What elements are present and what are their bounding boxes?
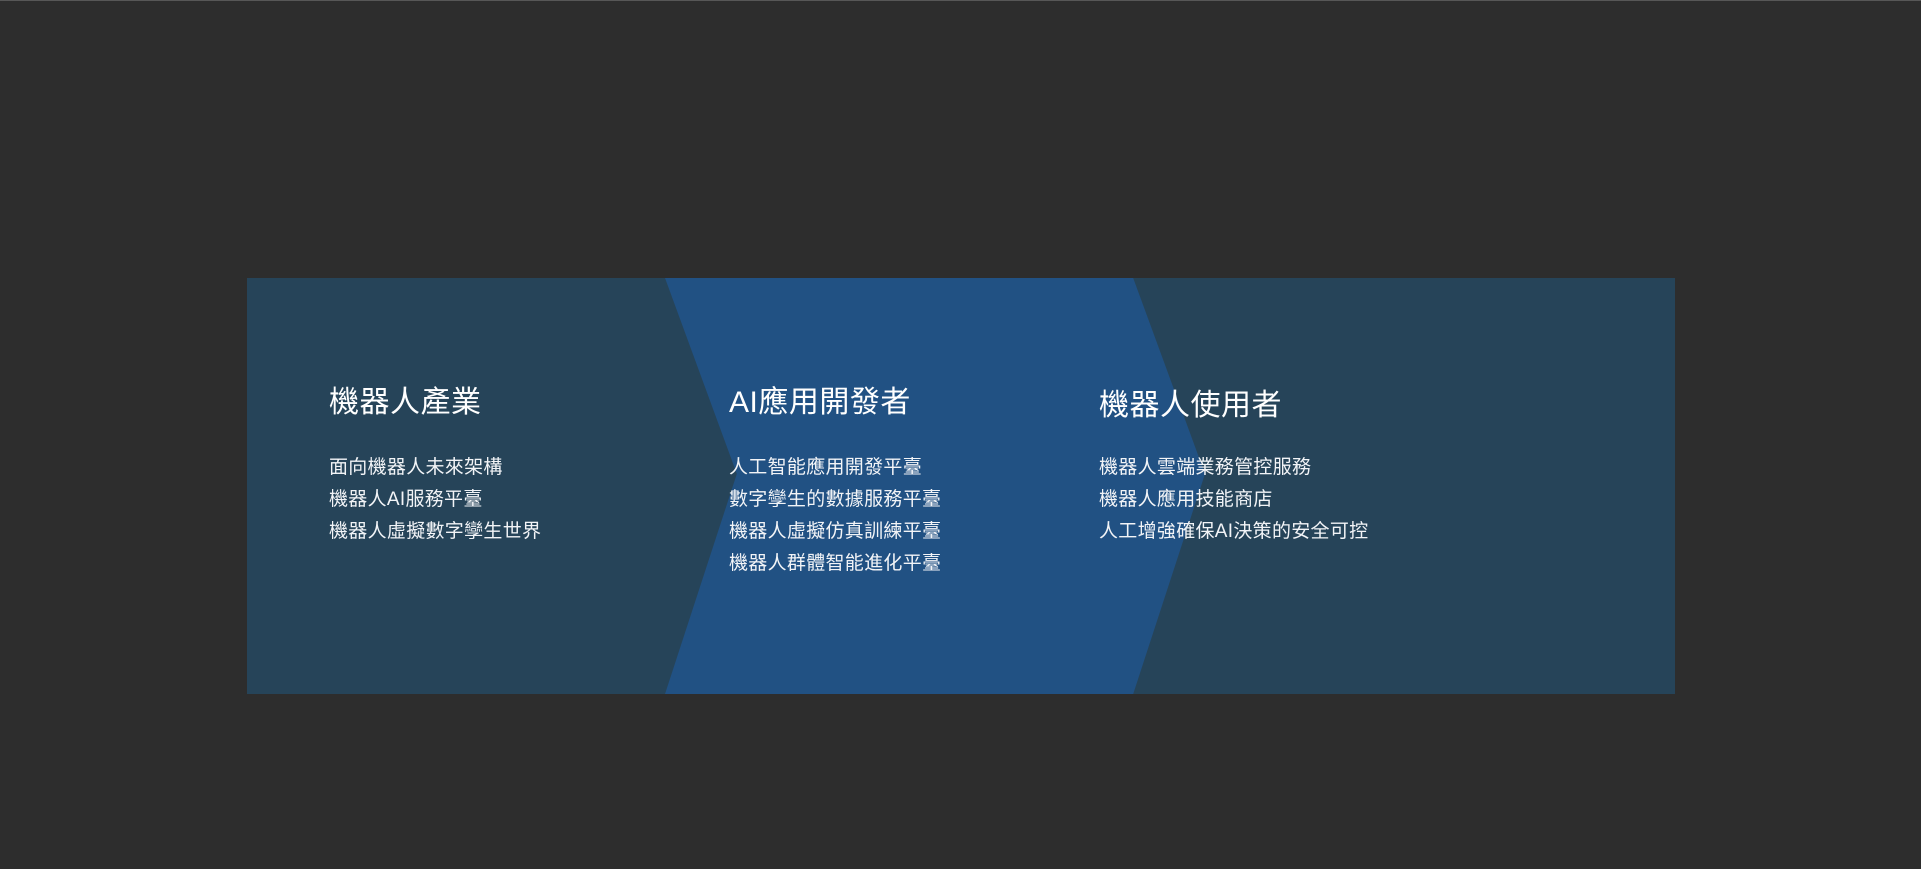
list-item: 機器人AI服務平臺 — [329, 484, 541, 516]
list-item: 人工增強確保AI決策的安全可控 — [1099, 516, 1368, 548]
list-item: 機器人虛擬數字孿生世界 — [329, 516, 541, 548]
chevron-segment-3[interactable]: 機器人使用者 機器人雲端業務管控服務 機器人應用技能商店 人工增強確保AI決策的… — [1099, 278, 1499, 694]
segment-1-title: 機器人產業 — [329, 388, 482, 418]
segment-1-item-list: 面向機器人未來架構 機器人AI服務平臺 機器人虛擬數字孿生世界 — [329, 452, 541, 548]
list-item: 數字孿生的數據服務平臺 — [729, 484, 941, 516]
list-item: 機器人群體智能進化平臺 — [729, 548, 941, 580]
list-item: 機器人虛擬仿真訓練平臺 — [729, 516, 941, 548]
segment-2-item-list: 人工智能應用開發平臺 數字孿生的數據服務平臺 機器人虛擬仿真訓練平臺 機器人群體… — [729, 452, 941, 580]
segment-2-title: AI應用開發者 — [729, 388, 911, 418]
chevron-diagram: 機器人產業 面向機器人未來架構 機器人AI服務平臺 機器人虛擬數字孿生世界 AI… — [247, 278, 1675, 694]
segment-3-item-list: 機器人雲端業務管控服務 機器人應用技能商店 人工增強確保AI決策的安全可控 — [1099, 452, 1368, 548]
list-item: 機器人雲端業務管控服務 — [1099, 452, 1368, 484]
chevron-segment-1[interactable]: 機器人產業 面向機器人未來架構 機器人AI服務平臺 機器人虛擬數字孿生世界 — [329, 278, 689, 694]
slide-canvas: { "colors": { "page_background": "#2d2d2… — [0, 0, 1921, 869]
segment-3-title: 機器人使用者 — [1099, 391, 1282, 421]
list-item: 人工智能應用開發平臺 — [729, 452, 941, 484]
list-item: 機器人應用技能商店 — [1099, 484, 1368, 516]
list-item: 面向機器人未來架構 — [329, 452, 541, 484]
chevron-segment-2[interactable]: AI應用開發者 人工智能應用開發平臺 數字孿生的數據服務平臺 機器人虛擬仿真訓練… — [729, 278, 1089, 694]
